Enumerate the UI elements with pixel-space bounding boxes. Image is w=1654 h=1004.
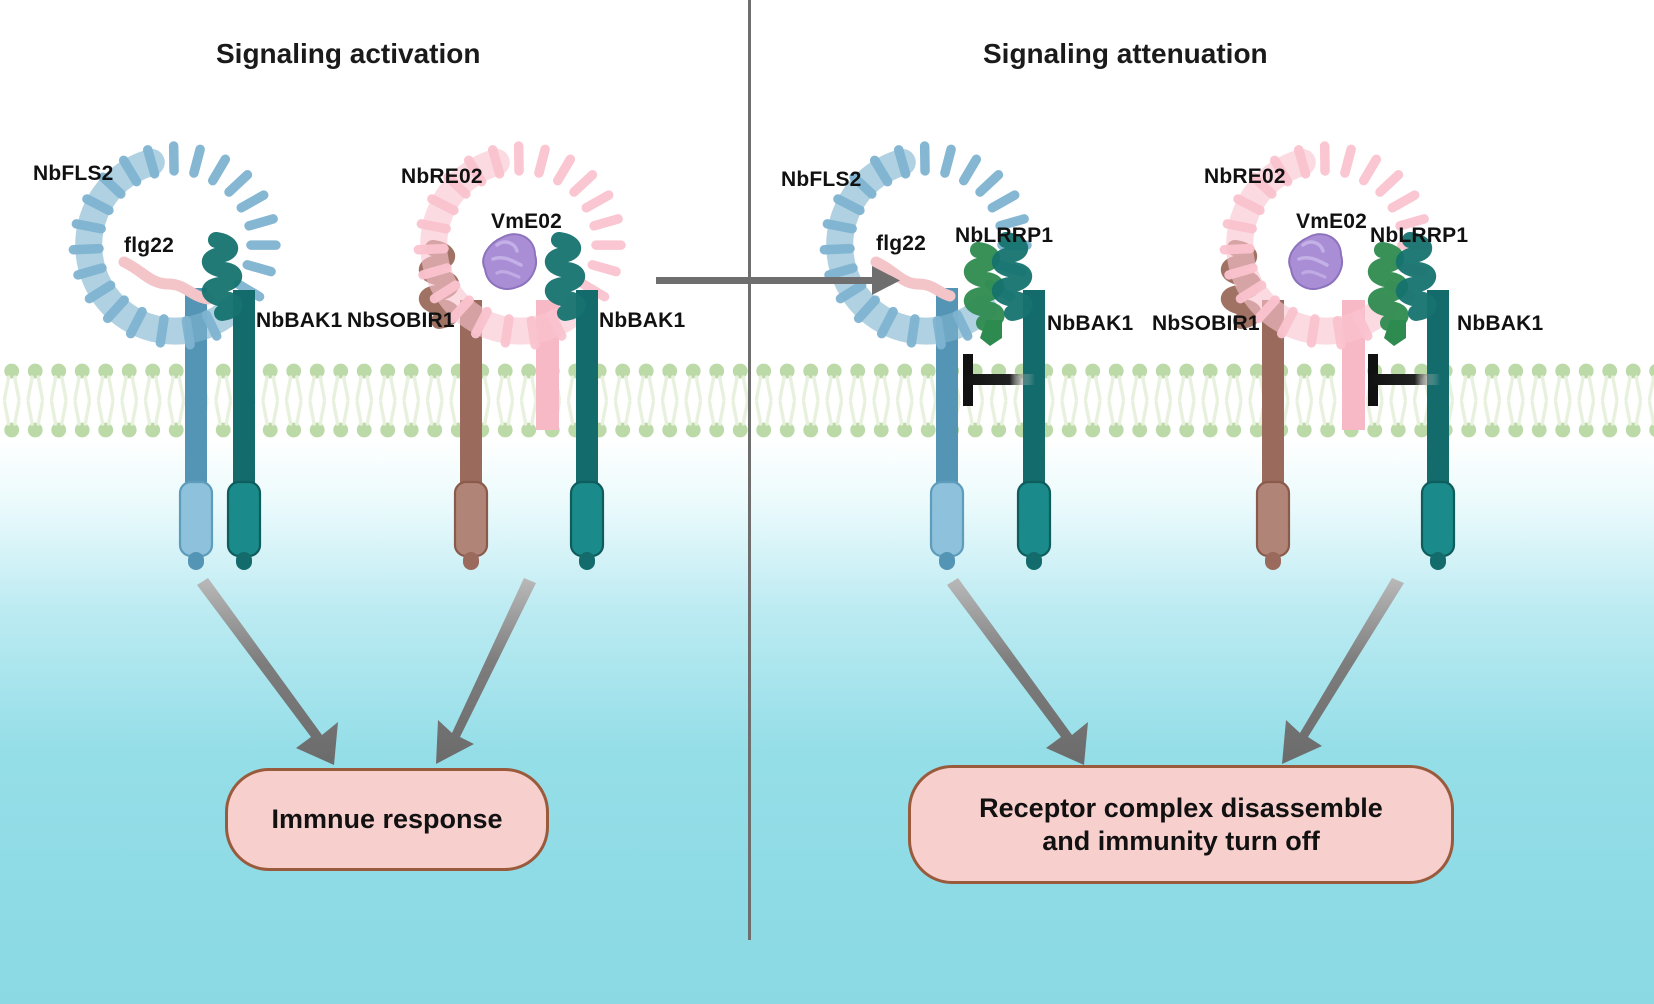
label-nbre02-left: NbRE02 [401, 165, 483, 189]
outcome-box-right-line2: and immunity turn off [979, 825, 1383, 858]
figure-canvas: Signaling activation Signaling attenuati… [0, 0, 1654, 1004]
label-nbbak1-left-2: NbBAK1 [599, 309, 685, 333]
panel-divider [748, 0, 751, 940]
outcome-box-right: Receptor complex disassemble and immunit… [908, 765, 1454, 884]
label-nbbak1-right-2: NbBAK1 [1457, 312, 1543, 336]
label-flg22-left: flg22 [124, 234, 174, 258]
outcome-box-left: Immnue response [225, 768, 549, 871]
label-nbfls2-left: NbFLS2 [33, 162, 114, 186]
label-nbfls2-right: NbFLS2 [781, 168, 862, 192]
label-nblrrp1-right-1: NbLRRP1 [955, 224, 1053, 248]
label-nbre02-right: NbRE02 [1204, 165, 1286, 189]
label-flg22-right: flg22 [876, 232, 926, 256]
label-nblrrp1-right-2: NbLRRP1 [1370, 224, 1468, 248]
label-nbbak1-left-1: NbBAK1 [256, 309, 342, 333]
label-vme02-right: VmE02 [1296, 210, 1367, 234]
cytoplasm-region [0, 438, 1654, 1004]
label-nbsobir1-right: NbSOBIR1 [1152, 312, 1260, 336]
plasma-membrane [0, 363, 1654, 438]
outcome-box-right-line1: Receptor complex disassemble [979, 792, 1383, 825]
panel-title-right: Signaling attenuation [983, 38, 1268, 70]
label-nbsobir1-left: NbSOBIR1 [347, 309, 455, 333]
label-vme02-left: VmE02 [491, 210, 562, 234]
label-nbbak1-right-1: NbBAK1 [1047, 312, 1133, 336]
panel-title-left: Signaling activation [216, 38, 480, 70]
